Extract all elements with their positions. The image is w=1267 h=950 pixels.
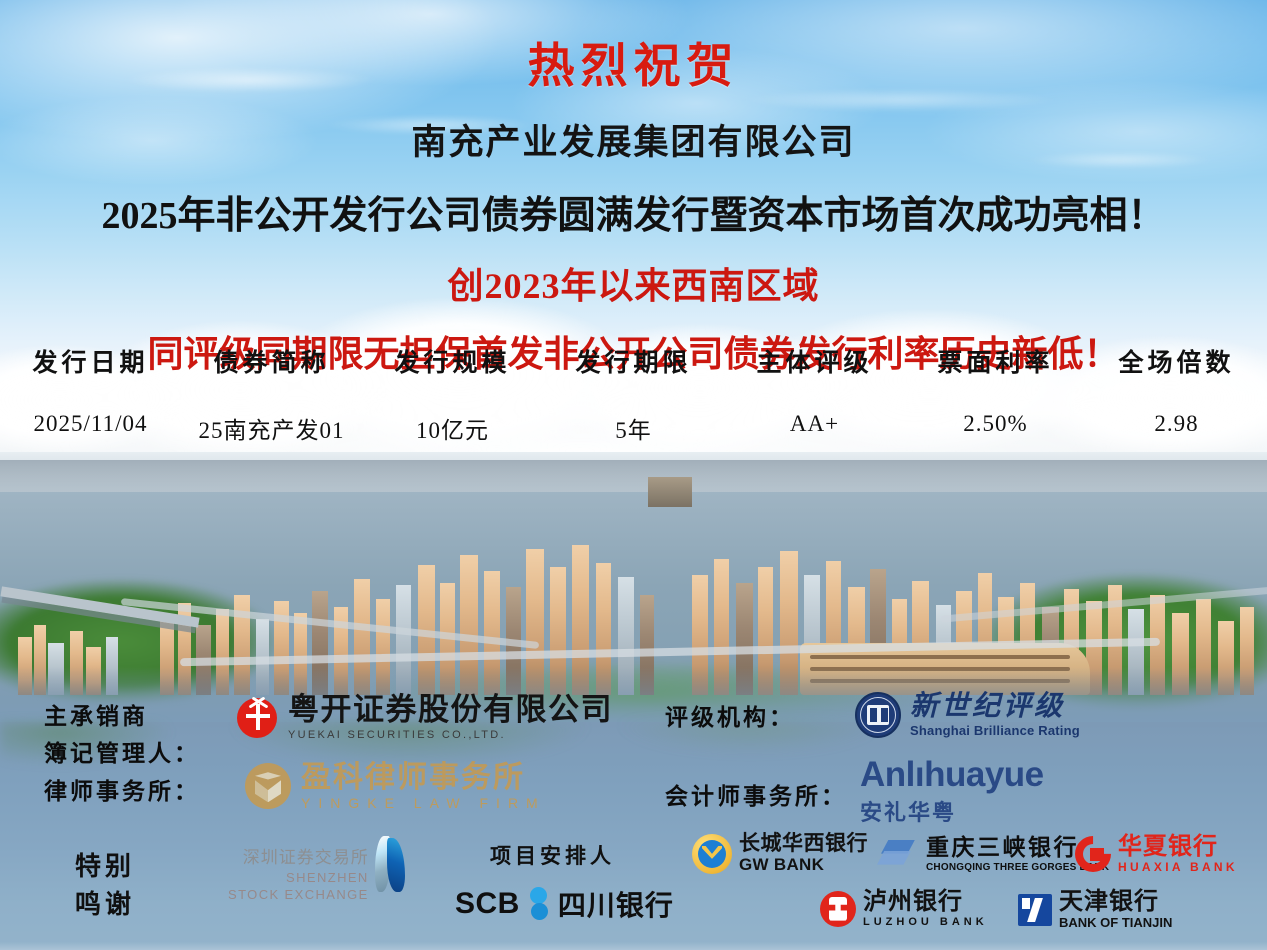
- scb-name-cn: 四川银行: [558, 884, 674, 924]
- law-firm-label: 律师事务所：: [44, 772, 200, 806]
- header-tenor: 发行期限: [543, 343, 724, 379]
- header-subscription-multiple: 全场倍数: [1086, 343, 1267, 379]
- huaxia-name-cn: 华夏银行: [1118, 834, 1238, 859]
- rating-agency-label: 评级机构：: [665, 698, 795, 732]
- luzhou-name-cn: 泸州银行: [863, 889, 988, 914]
- header-issue-date: 发行日期: [0, 343, 181, 379]
- special-thanks-label: 特别 鸣谢: [75, 848, 135, 923]
- bond-summary-table: 发行日期 债券简称 发行规模 发行期限 主体评级 票面利率 全场倍数 2025/…: [0, 343, 1267, 445]
- header-issue-size: 发行规模: [362, 343, 543, 379]
- tianjin-name-en: BANK OF TIANJIN: [1059, 916, 1172, 930]
- gw-bank-icon: [692, 834, 732, 874]
- yingke-name-cn: 盈科律师事务所: [301, 762, 546, 794]
- gw-bank-name-cn: 长城华西银行: [739, 833, 868, 855]
- three-gorges-icon: [877, 838, 919, 872]
- special-thanks-line2: 鸣谢: [75, 886, 135, 924]
- brilliance-name-cn: 新世纪评级: [910, 692, 1080, 721]
- luzhou-bank-logo: 泸州银行 LUZHOU BANK: [820, 889, 988, 928]
- huaxia-bank-logo: 华夏银行 HUAXIA BANK: [1075, 834, 1238, 874]
- yingke-cube-icon: [245, 763, 291, 809]
- cell-bond-name: 25南充产发01: [181, 411, 362, 445]
- huaxia-name-en: HUAXIA BANK: [1118, 861, 1238, 874]
- company-name: 南充产业发展集团有限公司: [0, 114, 1267, 165]
- underwriter-label-line1: 主承销商: [44, 697, 148, 731]
- cell-issuer-rating: AA+: [724, 411, 905, 445]
- shanghai-brilliance-rating-logo: 新世纪评级 Shanghai Brilliance Rating: [855, 692, 1080, 738]
- accounting-firm-label: 会计师事务所：: [665, 777, 847, 811]
- szse-name-en1: SHENZHEN: [286, 870, 369, 886]
- special-thanks-line1: 特别: [75, 848, 135, 886]
- brilliance-seal-icon: [855, 692, 901, 738]
- congrats-title: 热烈祝贺: [0, 44, 1267, 91]
- gw-bank-name-en: GW BANK: [739, 856, 868, 875]
- headline-block: 热烈祝贺 南充产业发展集团有限公司 2025年非公开发行公司债券圆满发行暨资本市…: [0, 0, 1267, 377]
- header-bond-name: 债券简称: [181, 343, 362, 379]
- yuekai-name-en: YUEKAI SECURITIES CO.,LTD.: [288, 729, 613, 741]
- yingke-law-firm-logo: 盈科律师事务所 YINGKE LAW FIRM: [245, 762, 546, 811]
- scb-double-circle-icon: [526, 886, 552, 922]
- anlihuayue-name-en: Anlıhuayue: [860, 757, 1044, 792]
- header-issuer-rating: 主体评级: [724, 343, 905, 379]
- bottom-edge-highlight: [0, 942, 1267, 950]
- tianjin-bank-icon: [1018, 894, 1052, 926]
- brilliance-name-en: Shanghai Brilliance Rating: [910, 723, 1080, 738]
- sichuan-bank-logo: SCB 四川银行: [455, 884, 674, 924]
- cell-tenor: 5年: [543, 411, 724, 445]
- celebration-poster: 热烈祝贺 南充产业发展集团有限公司 2025年非公开发行公司债券圆满发行暨资本市…: [0, 0, 1267, 950]
- scb-abbrev: SCB: [455, 887, 520, 921]
- table-header-row: 发行日期 债券简称 发行规模 发行期限 主体评级 票面利率 全场倍数: [0, 343, 1267, 379]
- subtitle-issue: 2025年非公开发行公司债券圆满发行暨资本市场首次成功亮相！: [0, 184, 1267, 239]
- underwriter-label-line2: 簿记管理人：: [44, 734, 200, 768]
- yuekai-securities-logo: 粤开证券股份有限公司 YUEKAI SECURITIES CO.,LTD.: [237, 694, 613, 741]
- cell-issue-date: 2025/11/04: [0, 411, 181, 445]
- szse-name-en2: STOCK EXCHANGE: [228, 887, 369, 903]
- anlihuayue-logo: Anlıhuayue 安礼华粤: [860, 757, 1044, 827]
- tianjin-name-cn: 天津银行: [1059, 889, 1172, 914]
- cell-coupon-rate: 2.50%: [905, 411, 1086, 445]
- huaxia-bank-icon: [1075, 836, 1111, 872]
- bank-of-tianjin-logo: 天津银行 BANK OF TIANJIN: [1018, 889, 1172, 930]
- record-line-1: 创2023年以来西南区域: [0, 257, 1267, 309]
- shenzhen-stock-exchange-logo: 深圳证券交易所 SHENZHEN STOCK EXCHANGE: [228, 848, 407, 903]
- great-wall-west-china-bank-logo: 长城华西银行 GW BANK: [692, 833, 868, 875]
- table-row: 2025/11/04 25南充产发01 10亿元 5年 AA+ 2.50% 2.…: [0, 411, 1267, 445]
- cell-issue-size: 10亿元: [362, 411, 543, 445]
- tower-crown: [648, 477, 692, 507]
- luzhou-bank-icon: [820, 891, 856, 927]
- yuekai-name-cn: 粤开证券股份有限公司: [288, 694, 613, 727]
- yuekai-mark-icon: [237, 695, 279, 739]
- header-coupon-rate: 票面利率: [905, 343, 1086, 379]
- anlihuayue-name-cn: 安礼华粤: [860, 795, 1044, 827]
- cell-subscription-multiple: 2.98: [1086, 411, 1267, 445]
- szse-name-cn: 深圳证券交易所: [243, 848, 369, 868]
- city-skyline-photo: [0, 452, 1267, 727]
- luzhou-name-en: LUZHOU BANK: [863, 916, 988, 928]
- central-tower: [652, 480, 688, 695]
- project-manager-label: 项目安排人: [490, 840, 615, 870]
- yingke-name-en: YINGKE LAW FIRM: [301, 795, 546, 811]
- szse-leaf-icon: [373, 836, 407, 894]
